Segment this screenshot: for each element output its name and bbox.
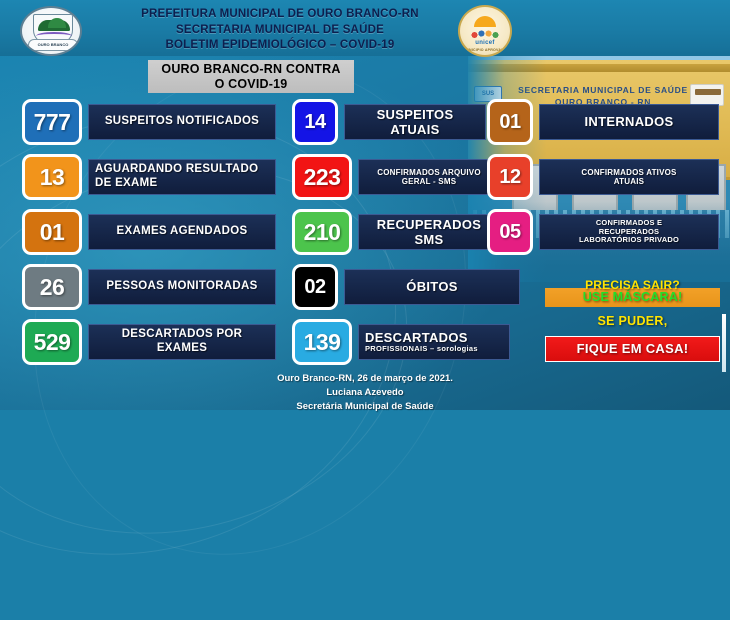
header-line-2: SECRETARIA MUNICIPAL DE SAÚDE [100,23,460,39]
cta-se-puder: SE PUDER, [545,314,720,328]
metric-label-line2: PROFISSIONAIS – sorologias [365,345,478,354]
metric-value-badge: 01 [22,209,82,255]
metric-label-line1: RECUPERADOS [377,217,481,232]
metric-value-badge: 777 [22,99,82,145]
header-line-3: BOLETIM EPIDEMIOLÓGICO – COVID-19 [100,38,460,54]
metric-label: CONFIRMADOS ATIVOS ATUAIS [539,159,719,195]
metric-label-line2: DE EXAME [95,177,157,191]
unicef-wordmark: unicef [460,40,510,46]
metric-label-line1: PESSOAS MONITORADAS [106,280,257,294]
metric-label: EXAMES AGENDADOS [88,214,276,250]
metric-exames-agendados: 01 EXAMES AGENDADOS [22,209,276,255]
metric-descartados-profissionais: 139 DESCARTADOS PROFISSIONAIS – sorologi… [292,319,510,365]
page-title: PREFEITURA MUNICIPAL DE OURO BRANCO-RN S… [100,7,460,54]
metric-label-line2: ATUAIS [390,122,439,137]
metric-obitos: 02 ÓBITOS [292,264,520,310]
metric-label-line2: GERAL - SMS [402,177,457,186]
campaign-banner-line1: OURO BRANCO-RN CONTRA [161,62,340,77]
bulletin-footer: Ouro Branco-RN, 26 de março de 2021. Luc… [0,370,730,410]
metrics-row-3: 01 EXAMES AGENDADOS 210 RECUPERADOS SMS … [0,209,730,263]
header-line-1: PREFEITURA MUNICIPAL DE OURO BRANCO-RN [100,7,460,23]
metrics-row-1: 777 SUSPEITOS NOTIFICADOS 14 SUSPEITOS A… [0,99,730,153]
metric-label-line1: DESCARTADOS [365,330,468,345]
metric-descartados-por-exames: 529 DESCARTADOS POR EXAMES [22,319,276,365]
footer-date: Ouro Branco-RN, 26 de março de 2021. [0,372,730,386]
metric-value-badge: 529 [22,319,82,365]
metric-confirmados-ativos-atuais: 12 CONFIRMADOS ATIVOS ATUAIS [487,154,719,200]
metric-suspeitos-atuais: 14 SUSPEITOS ATUAIS [292,99,486,145]
metric-label: PESSOAS MONITORADAS [88,269,276,305]
metric-label: SUSPEITOS ATUAIS [344,104,486,140]
metric-label: DESCARTADOS PROFISSIONAIS – sorologias [358,324,510,360]
metrics-row-2: 13 AGUARDANDO RESULTADO DE EXAME 223 CON… [0,154,730,208]
cta-use-mascara: USE MÁSCARA! [545,290,720,304]
metric-value-badge: 139 [292,319,352,365]
cta-precisa-sair: PRECISA SAIR? [545,278,720,292]
unicef-seal-icon: unicef MUNICIPIO APROVADO [458,5,512,57]
metric-value-badge: 12 [487,154,533,200]
metric-value-badge: 223 [292,154,352,200]
metric-value-badge: 02 [292,264,338,310]
campaign-banner: OURO BRANCO-RN CONTRA O COVID-19 [148,60,354,93]
metric-label: DESCARTADOS POR EXAMES [88,324,276,360]
metric-label-line3: LABORATÓRIOS PRIVADO [579,236,679,245]
metric-value-badge: 01 [487,99,533,145]
metric-label: SUSPEITOS NOTIFICADOS [88,104,276,140]
metric-label: AGUARDANDO RESULTADO DE EXAME [88,159,276,195]
metric-internados: 01 INTERNADOS [487,99,719,145]
metric-label-line1: CONFIRMADOS ARQUIVO [377,168,481,177]
footer-role: Secretária Municipal de Saúde [0,400,730,414]
metric-suspeitos-notificados: 777 SUSPEITOS NOTIFICADOS [22,99,276,145]
prevention-call-to-action: PRECISA SAIR? USE MÁSCARA! SE PUDER, FIQ… [545,278,720,362]
municipal-coat-of-arms-icon: OURO BRANCO [20,6,82,56]
metric-label: CONFIRMADOS E RECUPERADOS LABORATÓRIOS P… [539,214,719,250]
unicef-sun [474,16,496,27]
metric-label: INTERNADOS [539,104,719,140]
page-header: OURO BRANCO PREFEITURA MUNICIPAL DE OURO… [0,0,730,56]
cta-fique-em-casa: FIQUE EM CASA! [546,341,719,356]
footer-author: Luciana Azevedo [0,386,730,400]
metric-label-line2: SMS [414,232,443,247]
metric-recuperados-sms: 210 RECUPERADOS SMS [292,209,500,255]
metric-label: ÓBITOS [344,269,520,305]
campaign-banner-line2: O COVID-19 [215,77,288,92]
metric-aguardando-resultado: 13 AGUARDANDO RESULTADO DE EXAME [22,154,276,200]
metric-value-badge: 05 [487,209,533,255]
cta-side-marker [722,314,726,372]
metric-label: CONFIRMADOS ARQUIVO GERAL - SMS [358,159,500,195]
metric-label-line2: ATUAIS [614,177,644,186]
metric-label: RECUPERADOS SMS [358,214,500,250]
metric-label-line1: SUSPEITOS [377,107,454,122]
metric-label-line1: ÓBITOS [406,279,457,294]
unicef-seal-text: MUNICIPIO APROVADO [460,48,510,52]
metric-pessoas-monitoradas: 26 PESSOAS MONITORADAS [22,264,276,310]
cta-stay-home-banner: FIQUE EM CASA! [545,336,720,362]
metric-label-line1: EXAMES AGENDADOS [117,225,248,239]
metric-label-line1: SUSPEITOS NOTIFICADOS [105,115,259,129]
metric-value-badge: 13 [22,154,82,200]
metric-value-badge: 210 [292,209,352,255]
metric-value-badge: 26 [22,264,82,310]
metric-confirmados-arquivo-geral: 223 CONFIRMADOS ARQUIVO GERAL - SMS [292,154,500,200]
metric-value-badge: 14 [292,99,338,145]
metric-confirmados-recuperados-lab-privado: 05 CONFIRMADOS E RECUPERADOS LABORATÓRIO… [487,209,719,255]
coat-ribbon: OURO BRANCO [28,39,78,51]
metric-label-line1: INTERNADOS [585,114,674,129]
metric-label-line1: AGUARDANDO RESULTADO [95,163,258,177]
metric-label-line1: DESCARTADOS POR EXAMES [95,328,269,355]
metric-label-line1: CONFIRMADOS ATIVOS [581,168,676,177]
